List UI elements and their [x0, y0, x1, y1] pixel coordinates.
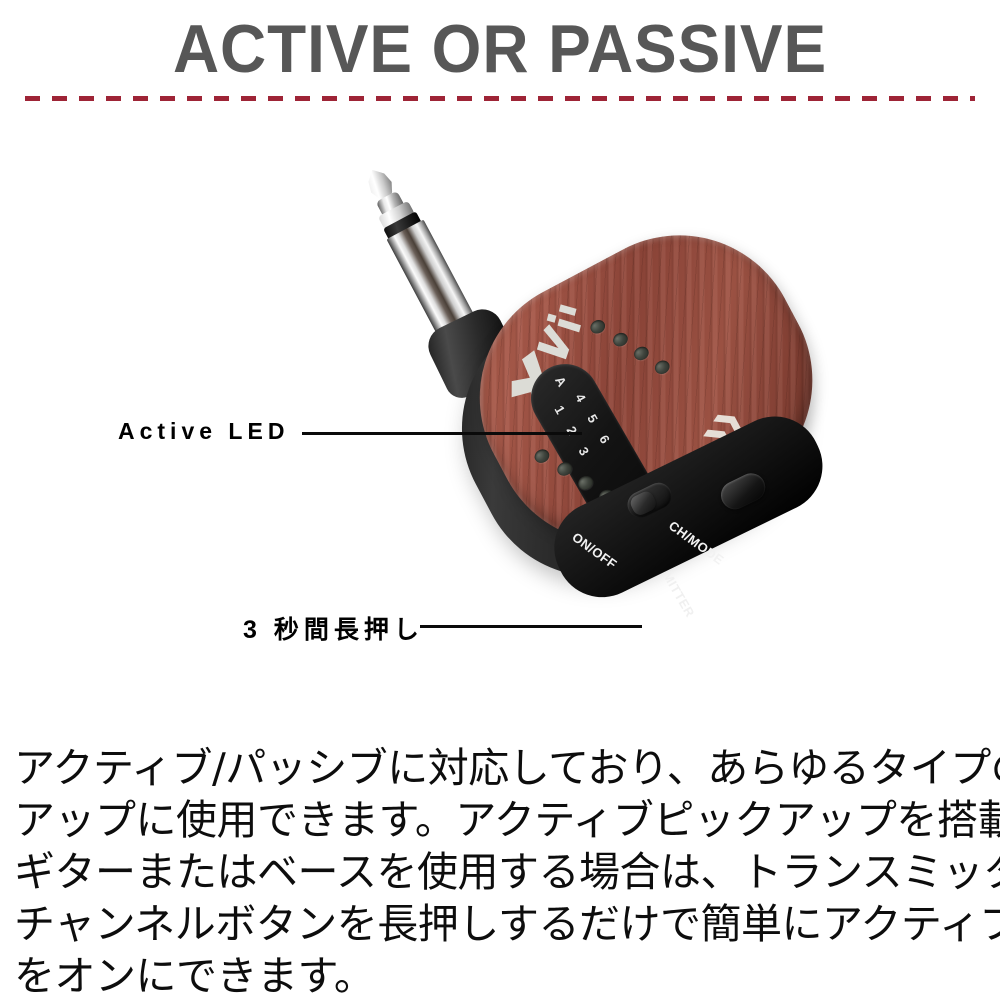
- callout-active-led-leader: [302, 432, 582, 435]
- power-switch[interactable]: [623, 478, 676, 522]
- description-line: をオンにできます。: [14, 950, 986, 1000]
- description-text: アクティブ/パッシブに対応しており、あらゆるタイプのピック アップに使用できます…: [14, 742, 986, 1000]
- product-photo: A 1 2 3 4 5 6 A24 TRANSMITTER: [0, 112, 1000, 732]
- channel-label-a: A: [552, 374, 570, 390]
- description-line: アップに使用できます。アクティブピックアップを搭載した: [14, 794, 986, 846]
- channel-label-6: 6: [596, 432, 613, 446]
- channel-label-5: 5: [584, 412, 601, 426]
- page-title: ACTIVE OR PASSIVE: [30, 14, 970, 84]
- channel-mode-label: CH/MODE: [666, 518, 727, 568]
- power-switch-nub[interactable]: [628, 489, 658, 517]
- callout-hold-3s-label: 3 秒間長押し: [243, 610, 424, 646]
- title-divider: [25, 96, 975, 101]
- description-line: チャンネルボタンを長押しするだけで簡単にアクティブモード: [14, 898, 986, 950]
- page-header: ACTIVE OR PASSIVE: [0, 0, 1000, 112]
- channel-label-3: 3: [575, 444, 592, 458]
- channel-mode-button[interactable]: [716, 469, 770, 514]
- channel-label-4: 4: [572, 391, 589, 405]
- channel-label-1: 1: [551, 403, 568, 417]
- callout-active-led-label: Active LED: [118, 418, 289, 445]
- callout-hold-3s-leader: [420, 625, 642, 628]
- description-line: ギターまたはベースを使用する場合は、トランスミッターの: [14, 846, 986, 898]
- description-line: アクティブ/パッシブに対応しており、あらゆるタイプのピック: [14, 742, 986, 794]
- power-switch-label: ON/OFF: [569, 529, 619, 571]
- channel-label-2: 2: [563, 424, 580, 438]
